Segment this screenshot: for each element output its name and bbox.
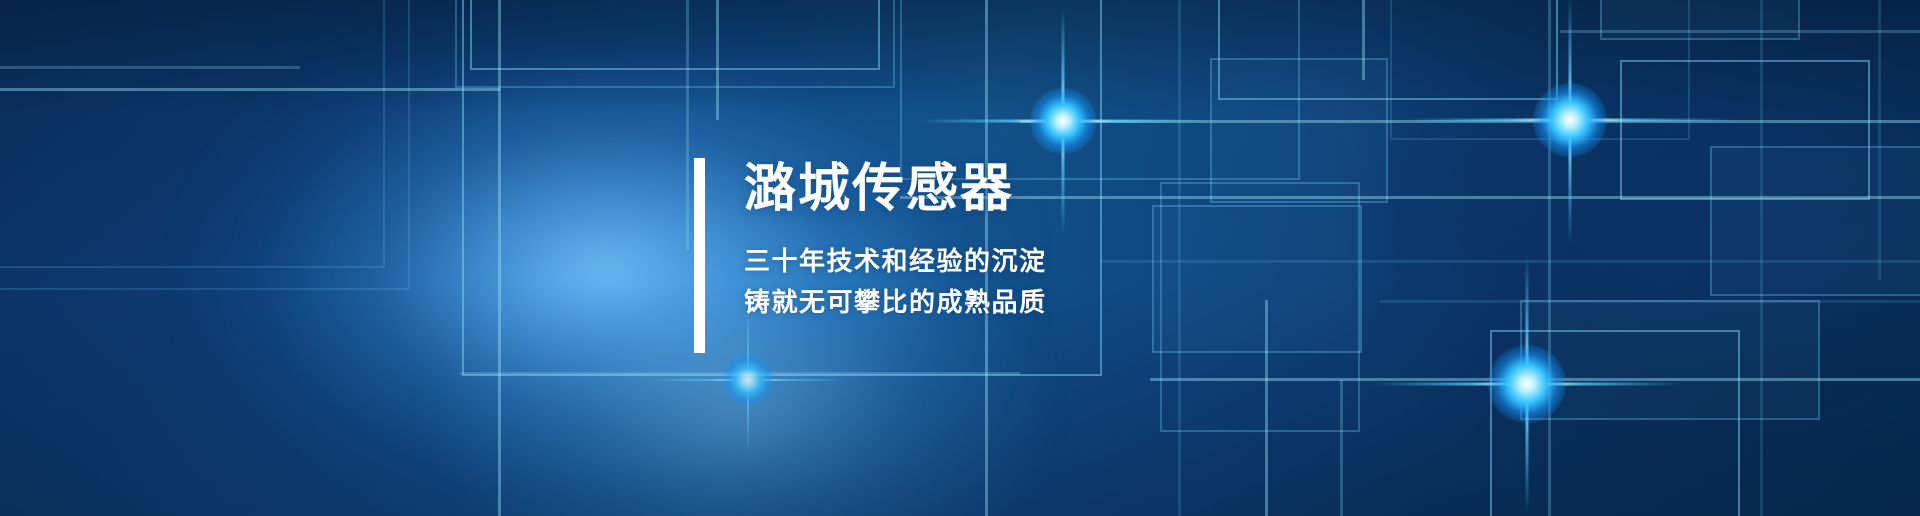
decor-rect-right-faint [1390, 0, 1690, 140]
hero-subtitle-line-1: 三十年技术和经验的沉淀 [744, 241, 1047, 282]
hero-text-group: 潞城传感器 三十年技术和经验的沉淀 铸就无可攀比的成熟品质 [744, 158, 1047, 353]
decor-hline-7 [1150, 378, 1920, 381]
hero-copy-block: 潞城传感器 三十年技术和经验的沉淀 铸就无可攀比的成熟品质 [694, 158, 1047, 353]
decor-vline-7 [1340, 380, 1343, 516]
decor-rect-center-wide [1152, 205, 1362, 353]
decor-vline-10 [1760, 0, 1763, 516]
hero-subtitle-line-2: 铸就无可攀比的成熟品质 [744, 282, 1047, 323]
accent-bar [694, 158, 705, 353]
hero-headline: 潞城传感器 [744, 162, 1047, 217]
decor-rect-topleft-inner [0, 0, 385, 268]
decor-rect-right-mid [1710, 146, 1920, 296]
decor-vline-3 [716, 0, 719, 120]
decor-vline-9 [1548, 0, 1551, 516]
decor-rect-right-bottom [1520, 300, 1820, 420]
decor-vline-1 [498, 0, 501, 516]
hero-subtitle-group: 三十年技术和经验的沉淀 铸就无可攀比的成熟品质 [744, 241, 1047, 322]
decor-hline-8 [460, 372, 1020, 375]
decor-vline-5 [1178, 0, 1181, 516]
decor-vline-11 [1878, 0, 1881, 280]
decor-hline-5 [900, 196, 1920, 199]
decor-hline-3 [1020, 120, 1920, 123]
decor-vline-6 [1265, 300, 1268, 516]
decor-hline-4 [1560, 30, 1920, 33]
decor-vline-2 [686, 0, 689, 250]
decor-hline-9 [1380, 300, 1920, 303]
hero-banner: 潞城传感器 三十年技术和经验的沉淀 铸就无可攀比的成熟品质 [0, 0, 1920, 516]
decor-vline-8 [1362, 0, 1365, 80]
decor-hline-2 [0, 66, 300, 69]
flare-beam-horizontal [648, 379, 848, 381]
decor-hline-1 [0, 88, 500, 91]
decor-hline-6 [1100, 260, 1920, 263]
